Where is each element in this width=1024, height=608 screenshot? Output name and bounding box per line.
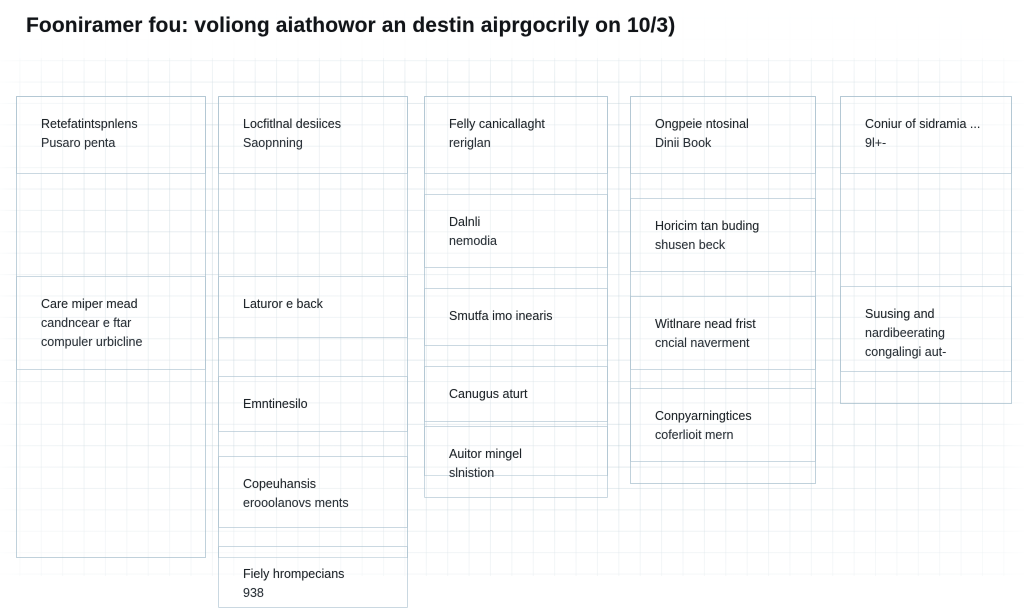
- card-conpyarningtices[interactable]: Conpyarningticescoferlioit mern: [630, 388, 816, 462]
- card-text-line: Suusing and: [865, 305, 991, 324]
- card-text-line: Locfitlnal desiices: [243, 115, 387, 134]
- card-auitor-mingel[interactable]: Auitor mingelslnistion: [424, 426, 608, 498]
- card-text-line: nardibeerating: [865, 324, 991, 343]
- card-emntinesilo[interactable]: Emntinesilo: [218, 376, 408, 432]
- card-text-line: Smutfa imo inearis: [449, 307, 587, 326]
- card-locfitlnal[interactable]: Locfitlnal desiicesSaopnning: [218, 96, 408, 174]
- card-text-line: Dalnli: [449, 213, 587, 232]
- card-text-line: coferlioit mern: [655, 426, 795, 445]
- card-text-line: 938: [243, 584, 387, 603]
- card-care-miper[interactable]: Care miper meadcandncear e ftarcompuler …: [16, 276, 206, 370]
- card-text-line: reriglan: [449, 134, 587, 153]
- card-text-line: slnistion: [449, 464, 587, 483]
- card-text-line: Horicim tan buding: [655, 217, 795, 236]
- card-text-line: Care miper mead: [41, 295, 185, 314]
- card-felly-canicallaght[interactable]: Felly canicallaghtreriglan: [424, 96, 608, 174]
- card-dalnli[interactable]: Dalnlinemodia: [424, 194, 608, 268]
- card-text-line: Witlnare nead frist: [655, 315, 795, 334]
- card-text-line: shusen beck: [655, 236, 795, 255]
- card-suusing[interactable]: Suusing andnardibeeratingcongalingi aut-: [840, 286, 1012, 372]
- card-smutfa[interactable]: Smutfa imo inearis: [424, 288, 608, 346]
- card-text-line: compuler urbicline: [41, 333, 185, 352]
- card-text-line: erooolanovs ments: [243, 494, 387, 513]
- card-text-line: Emntinesilo: [243, 395, 387, 414]
- card-text-line: Auitor mingel: [449, 445, 587, 464]
- card-text-line: Canugus aturt: [449, 385, 587, 404]
- page-title: Fooniramer fou: voliong aiathowor an des…: [26, 14, 675, 38]
- card-laturor[interactable]: Laturor e back: [218, 276, 408, 338]
- card-text-line: congalingi aut-: [865, 343, 991, 362]
- card-text-line: Coniur of sidramia ...: [865, 115, 991, 134]
- card-text-line: Fiely hrompecians: [243, 565, 387, 584]
- card-text-line: nemodia: [449, 232, 587, 251]
- card-coniur[interactable]: Coniur of sidramia ...9l+-: [840, 96, 1012, 174]
- card-text-line: Retefatintspnlens: [41, 115, 185, 134]
- card-text-line: Saopnning: [243, 134, 387, 153]
- card-text-line: Laturor e back: [243, 295, 387, 314]
- card-ongpeie[interactable]: Ongpeie ntosinalDinii Book: [630, 96, 816, 174]
- card-text-line: cncial naverment: [655, 334, 795, 353]
- card-text-line: Pusaro penta: [41, 134, 185, 153]
- card-fiely-hrompecians[interactable]: Fiely hrompecians938: [218, 546, 408, 608]
- card-retefatin[interactable]: RetefatintspnlensPusaro penta: [16, 96, 206, 174]
- card-text-line: Felly canicallaght: [449, 115, 587, 134]
- card-text-line: Copeuhansis: [243, 475, 387, 494]
- card-text-line: candncear e ftar: [41, 314, 185, 333]
- card-witlnare[interactable]: Witlnare nead fristcncial naverment: [630, 296, 816, 370]
- card-text-line: 9l+-: [865, 134, 991, 153]
- card-canugus[interactable]: Canugus aturt: [424, 366, 608, 422]
- board-canvas[interactable]: RetefatintspnlensPusaro pentaCare miper …: [0, 58, 1024, 576]
- card-horicim[interactable]: Horicim tan budingshusen beck: [630, 198, 816, 272]
- header-band: Fooniramer fou: voliong aiathowor an des…: [0, 0, 1024, 58]
- card-text-line: Dinii Book: [655, 134, 795, 153]
- card-text-line: Conpyarningtices: [655, 407, 795, 426]
- card-text-line: Ongpeie ntosinal: [655, 115, 795, 134]
- card-copeuhansis[interactable]: Copeuhansiserooolanovs ments: [218, 456, 408, 528]
